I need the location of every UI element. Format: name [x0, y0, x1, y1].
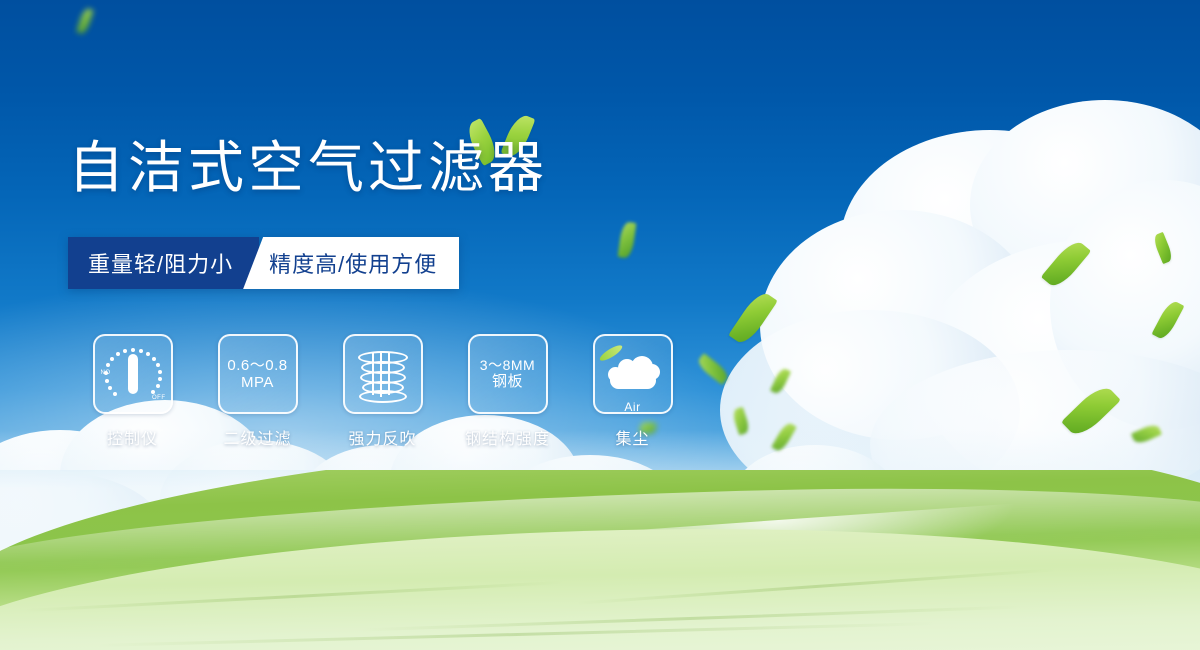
cloud-air-caption: Air: [604, 400, 662, 414]
feature-item[interactable]: 强力反吹: [320, 334, 445, 449]
feature-item[interactable]: NO OFF 控制仪: [70, 334, 195, 449]
gauge-icon: NO OFF: [102, 345, 164, 403]
feature-icon-box: NO OFF: [93, 334, 173, 414]
feature-icon-text-line: 钢板: [492, 373, 523, 390]
subtitle-bar: 重量轻/阻力小 精度高/使用方便: [68, 237, 459, 289]
feature-label: 钢结构强度: [465, 425, 550, 449]
leaf-streak-icon: [597, 343, 623, 364]
subtitle-left: 重量轻/阻力小: [68, 237, 259, 289]
feature-label: 强力反吹: [348, 425, 416, 449]
cloud-air-icon: Air: [604, 351, 662, 397]
feature-icon-box: 3～8MM 钢板: [468, 334, 548, 414]
feature-item[interactable]: Air 集尘: [570, 334, 695, 449]
feature-label: 二级过滤: [223, 425, 291, 449]
feature-item[interactable]: 3～8MM 钢板 钢结构强度: [445, 334, 570, 449]
feature-icon-box: Air: [593, 334, 673, 414]
airflow-icon: [356, 345, 410, 403]
subtitle-right: 精度高/使用方便: [243, 237, 459, 289]
feature-label: 集尘: [615, 425, 649, 449]
grass-field: [0, 470, 1200, 650]
feature-icon-text-line: 0.6～0.8: [227, 357, 287, 374]
feature-icon-box: [343, 334, 423, 414]
page-title: 自洁式空气过滤器: [68, 140, 548, 196]
gauge-label-off: OFF: [152, 395, 166, 401]
feature-icon-box: 0.6～0.8 MPA: [218, 334, 298, 414]
feature-item[interactable]: 0.6～0.8 MPA 二级过滤: [195, 334, 320, 449]
gauge-label-on: NO: [101, 370, 111, 376]
feature-icon-text-line: MPA: [241, 374, 274, 391]
product-banner: 自洁式空气过滤器 重量轻/阻力小 精度高/使用方便: [0, 0, 1200, 650]
feature-label: 控制仪: [107, 425, 158, 449]
feature-list: NO OFF 控制仪 0.6～0.8 MPA 二级过滤: [70, 334, 695, 449]
feature-icon-text-line: 3～8MM: [480, 357, 535, 373]
